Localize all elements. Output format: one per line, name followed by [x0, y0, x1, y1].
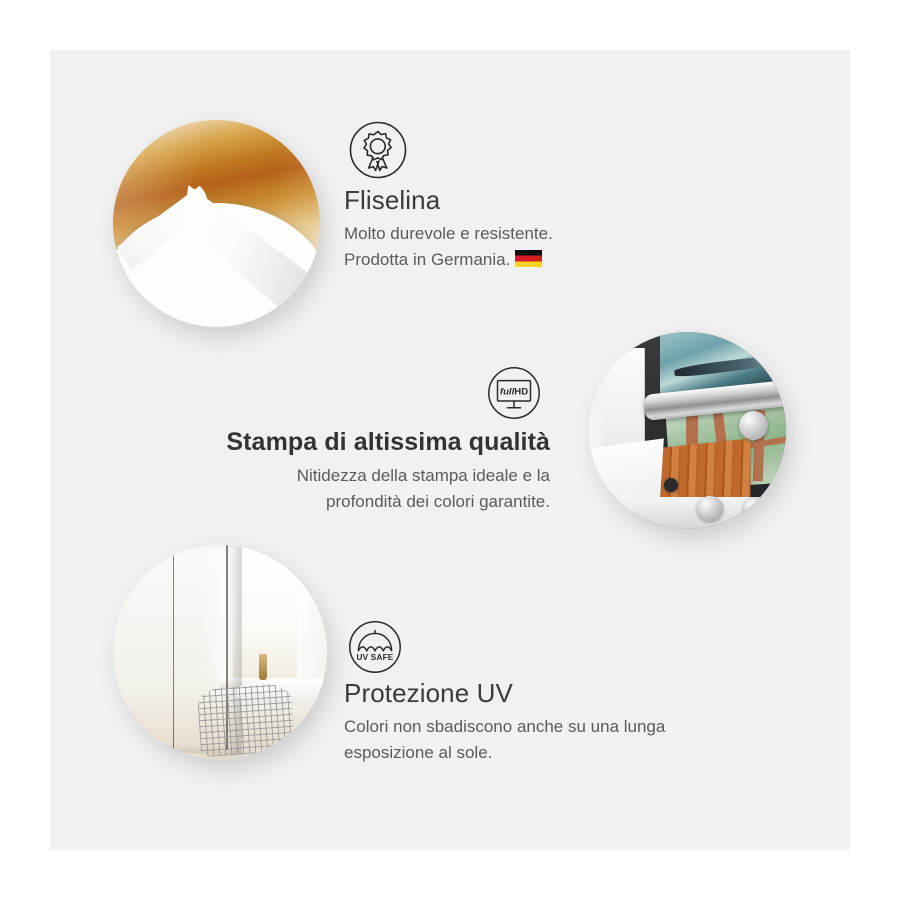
printer-knob	[743, 497, 769, 523]
desc-line: Nitidezza della stampa ideale e la	[200, 463, 550, 489]
feature-title-quality: Stampa di altissima qualità	[200, 425, 550, 459]
feature-title-uv: Protezione UV	[344, 676, 774, 710]
feature-block-uv: Protezione UV Colori non sbadiscono anch…	[344, 676, 774, 766]
wire-mesh-chair	[196, 683, 295, 758]
desc-line: esposizione al sole.	[344, 740, 774, 766]
wallpaper-seam	[173, 545, 175, 750]
desc-line-text: Prodotta in Germania.	[344, 250, 510, 269]
printer-knob	[697, 496, 723, 522]
award-rosette-icon	[348, 120, 408, 180]
german-flag-icon	[515, 250, 542, 267]
feature-desc-uv: Colori non sbadiscono anche su una lunga…	[344, 714, 774, 766]
desc-line: Molto durevole e resistente.	[344, 221, 764, 247]
photo-large-format-printer	[589, 332, 786, 529]
uv-safe-umbrella-icon: UV SAFE	[348, 620, 402, 674]
product-feature-infographic: Fliselina Molto durevole e resistente. P…	[0, 0, 900, 900]
fullhd-monitor-icon: fullHD	[487, 366, 541, 420]
photo-mandala-interior	[113, 545, 327, 759]
desc-line: Colori non sbadiscono anche su una lunga	[344, 714, 774, 740]
desc-line-with-flag: Prodotta in Germania.	[344, 247, 764, 273]
feature-block-fliselina: Fliselina Molto durevole e resistente. P…	[344, 183, 764, 273]
photo-inner	[113, 545, 327, 759]
photo-inner	[113, 120, 320, 327]
feature-block-quality: Stampa di altissima qualità Nitidezza de…	[200, 425, 550, 515]
printer-knob	[664, 478, 678, 492]
feature-desc-quality: Nitidezza della stampa ideale e la profo…	[200, 463, 550, 515]
candle-holder	[259, 654, 268, 680]
feature-title-fliselina: Fliselina	[344, 183, 764, 217]
feature-desc-fliselina: Molto durevole e resistente. Prodotta in…	[344, 221, 764, 273]
svg-text:UV SAFE: UV SAFE	[357, 653, 394, 662]
desc-line: profondità dei colori garantite.	[200, 489, 550, 515]
photo-wallpaper-roll	[113, 120, 320, 327]
svg-text:fullHD: fullHD	[500, 386, 528, 397]
photo-inner	[589, 332, 786, 529]
